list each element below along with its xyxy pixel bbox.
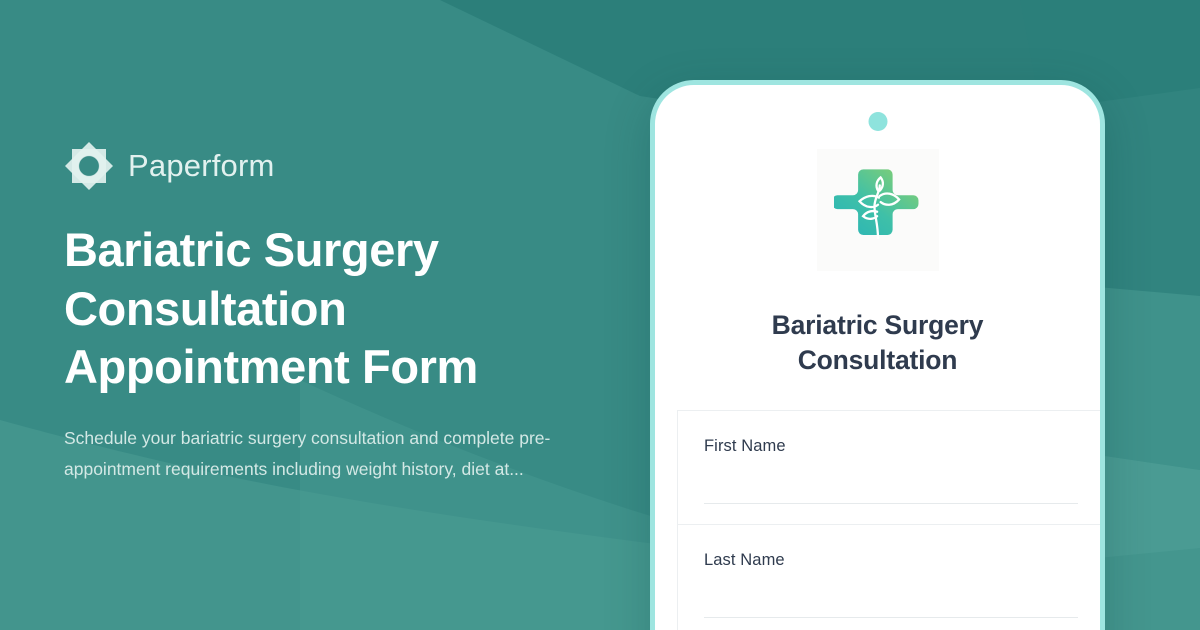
brand: Paperform [64,141,604,191]
field-first-name[interactable]: First Name [678,411,1100,525]
medical-cross-leaf-logo-icon [834,166,922,254]
paperform-logo-icon [64,141,114,191]
form-logo-container [817,149,939,271]
field-label: Last Name [704,551,1074,570]
first-name-input[interactable] [704,503,1078,504]
form-title: Bariatric Surgery Consultation [689,308,1066,378]
brand-name: Paperform [128,148,275,184]
phone-mockup: Bariatric Surgery Consultation First Nam… [650,80,1105,630]
form-fields: First Name Last Name [677,410,1100,630]
field-last-name[interactable]: Last Name [678,525,1100,630]
camera-dot [868,112,887,131]
field-label: First Name [704,437,1074,456]
hero-section: Paperform Bariatric Surgery Consultation… [64,0,604,630]
page-subtitle: Schedule your bariatric surgery consulta… [64,423,579,485]
last-name-input[interactable] [704,617,1078,618]
page-title: Bariatric Surgery Consultation Appointme… [64,221,534,397]
